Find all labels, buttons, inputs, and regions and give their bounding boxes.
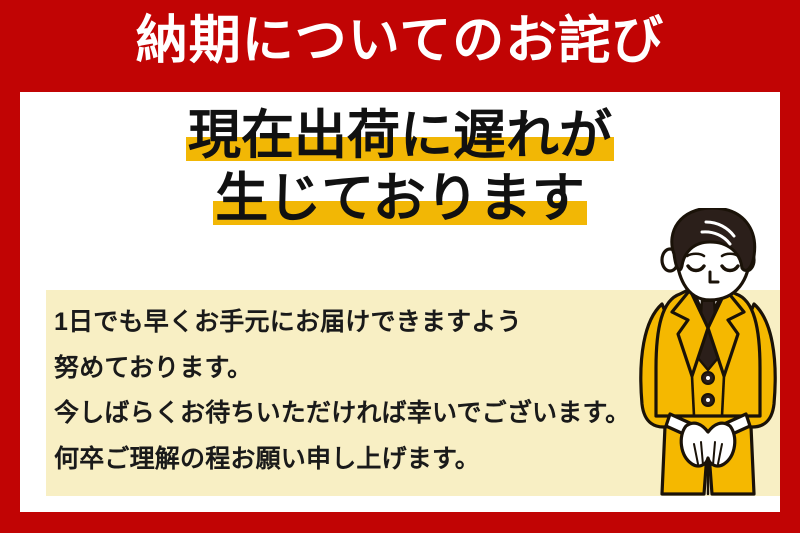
frame-left-border [0, 0, 20, 533]
body-line-2: 努めております。 [54, 346, 654, 392]
body-line-1: 1日でも早くお手元にお届けできますよう [54, 300, 654, 346]
clasped-hands [681, 423, 735, 466]
headline-line-2-text: 生じております [213, 168, 586, 229]
body-text-block: 1日でも早くお手元にお届けできますよう 努めております。 今しばらくお待ちいただ… [54, 300, 654, 482]
page-title: 納期についてのお詫び [0, 9, 800, 74]
bowing-businessman-illustration [632, 208, 784, 500]
body-line-3: 今しばらくお待ちいただければ幸いでございます。 [54, 391, 654, 437]
headline-line-1-text: 現在出荷に遅れが [186, 105, 614, 166]
frame-bottom-border [0, 512, 800, 533]
apology-notice-poster: 納期についてのお詫び 現在出荷に遅れが 生じております 1日でも早くお手元にお届… [0, 0, 800, 533]
body-line-4: 何卒ご理解の程お願い申し上げます。 [54, 437, 654, 483]
headline-line-1: 現在出荷に遅れが [20, 105, 780, 166]
